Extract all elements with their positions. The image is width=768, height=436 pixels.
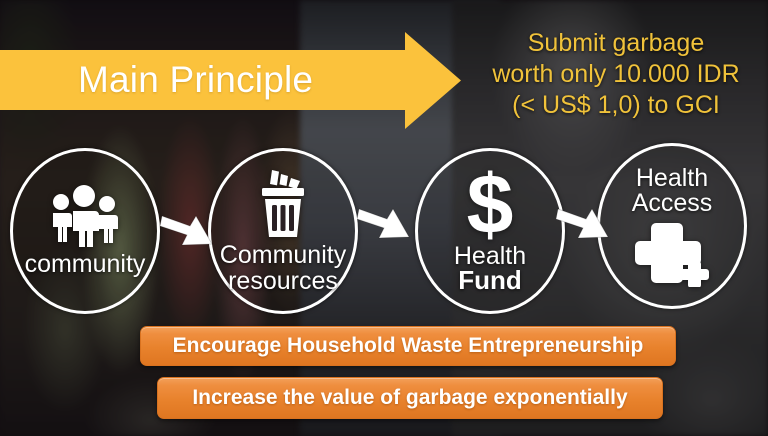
flow-node-health-access[interactable]: Health Access bbox=[597, 143, 747, 309]
node-label-line-2: Fund bbox=[458, 267, 522, 294]
dollar-sign-icon: $ bbox=[461, 167, 519, 243]
arrow-right-icon bbox=[556, 205, 610, 253]
node-label-line-1: Health bbox=[636, 166, 708, 192]
arrow-right-icon bbox=[160, 212, 214, 260]
medical-cross-icon bbox=[635, 221, 709, 287]
page-title: Main Principle bbox=[78, 50, 408, 110]
flow-connector-2 bbox=[357, 205, 411, 258]
node-label-line-1: Community bbox=[220, 241, 346, 269]
callout-banner-encourage[interactable]: Encourage Household Waste Entrepreneursh… bbox=[140, 326, 676, 366]
people-group-icon bbox=[47, 185, 123, 247]
arrow-right-icon bbox=[357, 205, 411, 253]
node-label-line-2: Access bbox=[632, 191, 713, 217]
flow-node-community-resources[interactable]: Community resources bbox=[208, 148, 358, 314]
node-label: Community resources bbox=[220, 242, 346, 294]
svg-text:$: $ bbox=[467, 167, 514, 243]
slide-canvas: Main Principle Submit garbage worth only… bbox=[0, 0, 768, 436]
flow-connector-3 bbox=[556, 205, 610, 258]
node-label: community bbox=[25, 251, 146, 277]
flow-node-health-fund[interactable]: $ Health Fund bbox=[415, 148, 565, 314]
flow-node-community[interactable]: community bbox=[10, 148, 160, 314]
caption-line-1: Submit garbage bbox=[470, 28, 762, 59]
trash-bin-icon bbox=[251, 168, 315, 240]
caption-line-3: (< US$ 1,0) to GCI bbox=[470, 90, 762, 121]
flow-connector-1 bbox=[160, 212, 214, 265]
callout-banner-increase[interactable]: Increase the value of garbage exponentia… bbox=[157, 377, 663, 419]
node-label-line-2: resources bbox=[228, 267, 338, 295]
submit-garbage-caption: Submit garbage worth only 10.000 IDR (< … bbox=[470, 28, 762, 121]
caption-line-2: worth only 10.000 IDR bbox=[470, 59, 762, 90]
